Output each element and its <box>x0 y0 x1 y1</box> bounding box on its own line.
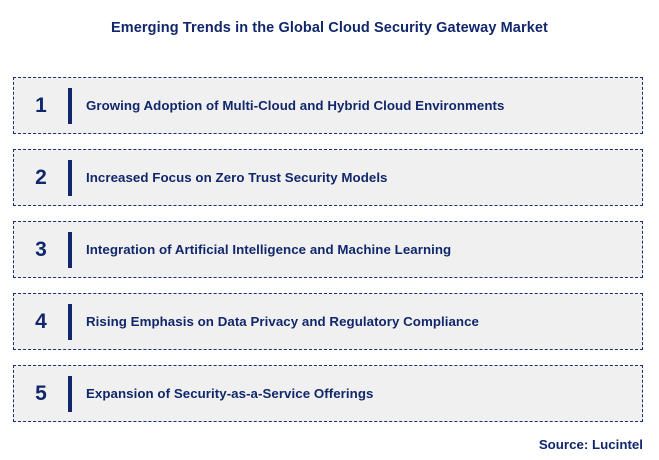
infographic-page: Emerging Trends in the Global Cloud Secu… <box>0 0 659 460</box>
trend-item-2: 2 Increased Focus on Zero Trust Security… <box>13 149 643 206</box>
trend-number: 4 <box>14 311 68 332</box>
page-title: Emerging Trends in the Global Cloud Secu… <box>0 20 659 36</box>
trend-label: Expansion of Security-as-a-Service Offer… <box>86 386 642 401</box>
trend-list: 1 Growing Adoption of Multi-Cloud and Hy… <box>13 77 643 422</box>
trend-number: 2 <box>14 167 68 188</box>
trend-label: Rising Emphasis on Data Privacy and Regu… <box>86 314 642 329</box>
trend-item-5: 5 Expansion of Security-as-a-Service Off… <box>13 365 643 422</box>
vertical-divider-bar <box>68 304 72 340</box>
trend-label: Increased Focus on Zero Trust Security M… <box>86 170 642 185</box>
source-attribution: Source: Lucintel <box>539 437 643 452</box>
vertical-divider-bar <box>68 376 72 412</box>
trend-item-1: 1 Growing Adoption of Multi-Cloud and Hy… <box>13 77 643 134</box>
trend-label: Growing Adoption of Multi-Cloud and Hybr… <box>86 98 642 113</box>
trend-item-4: 4 Rising Emphasis on Data Privacy and Re… <box>13 293 643 350</box>
trend-item-3: 3 Integration of Artificial Intelligence… <box>13 221 643 278</box>
vertical-divider-bar <box>68 232 72 268</box>
vertical-divider-bar <box>68 160 72 196</box>
trend-label: Integration of Artificial Intelligence a… <box>86 242 642 257</box>
trend-number: 1 <box>14 95 68 116</box>
trend-number: 5 <box>14 383 68 404</box>
vertical-divider-bar <box>68 88 72 124</box>
trend-number: 3 <box>14 239 68 260</box>
